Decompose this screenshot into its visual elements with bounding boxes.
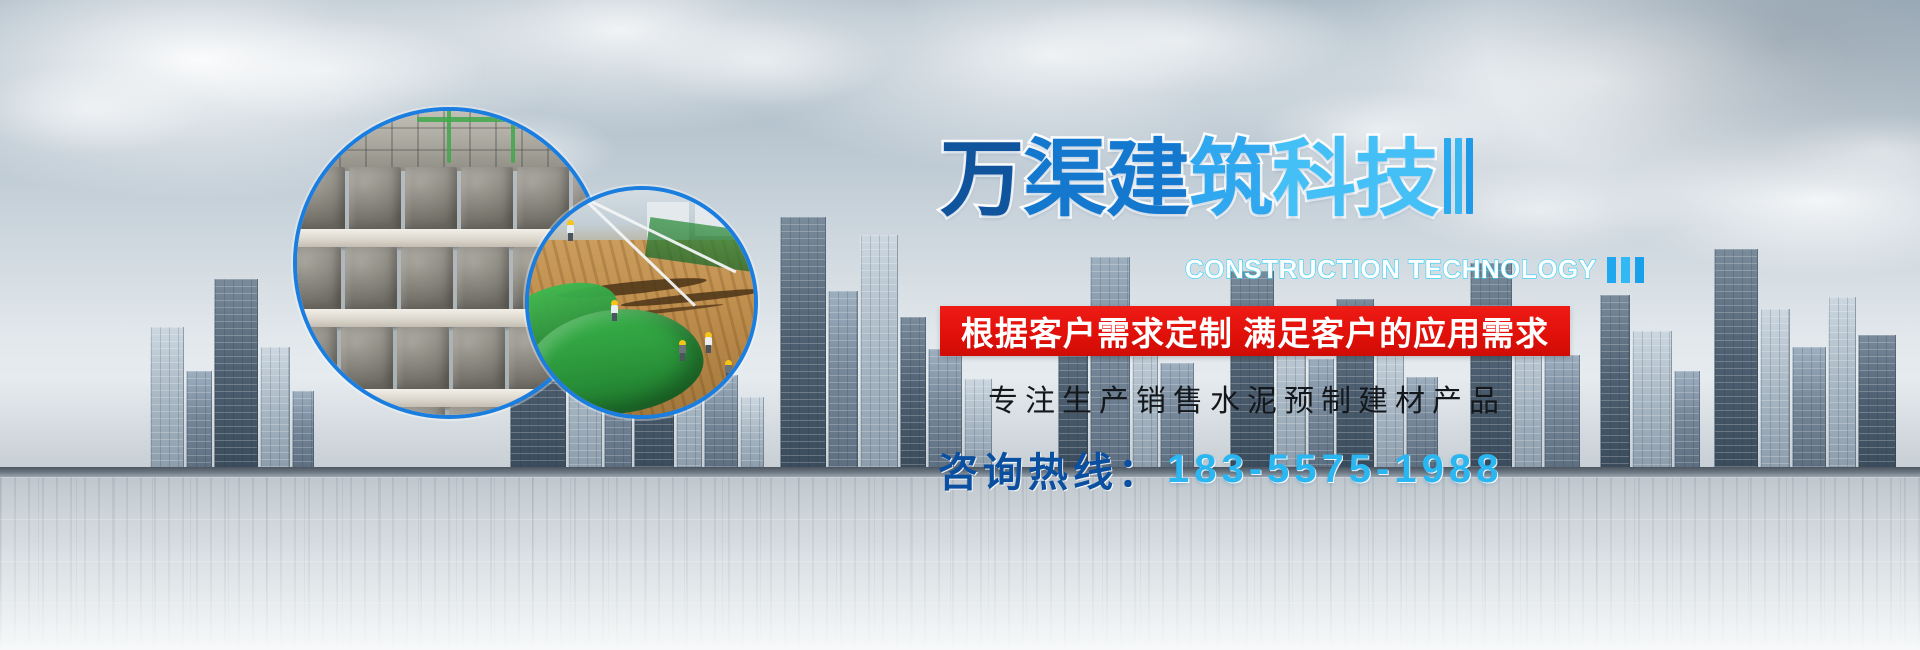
title-char-4: 筑 [1189,140,1272,220]
subtitle-english-text: CONSTRUCTION TECHNOLOGY [1185,254,1597,285]
title-char-6: 技 [1355,140,1438,220]
title-char-1: 万 [940,140,1023,220]
hotline-label: 咨询热线： [938,440,1163,498]
hotline-block: 咨询热线： 183-5575-1988 [938,440,1503,498]
title-char-3: 建 [1106,140,1189,220]
custom-order-highlight: 根据客户需求定制 满足客户的应用需求 [940,306,1570,356]
custom-order-text: 根据客户需求定制 满足客户的应用需求 [961,307,1549,355]
title-accent-bars-icon [1444,138,1473,214]
brand-title: 万 渠 建 筑 科 技 [940,138,1473,220]
company-hero-banner: 万 渠 建 筑 科 技 CONSTRUCTION TECHNOLOGY 根据客户… [0,0,1920,650]
title-char-2: 渠 [1023,140,1106,220]
subtitle-accent-bars-icon [1607,257,1644,283]
title-char-5: 科 [1272,140,1355,220]
business-tagline: 专注生产销售水泥预制建材产品 [988,376,1506,420]
banner-text-block: 万 渠 建 筑 科 技 CONSTRUCTION TECHNOLOGY 根据客户… [0,0,1920,650]
hotline-number[interactable]: 183-5575-1988 [1167,447,1503,492]
brand-subtitle-english: CONSTRUCTION TECHNOLOGY [1185,254,1644,285]
